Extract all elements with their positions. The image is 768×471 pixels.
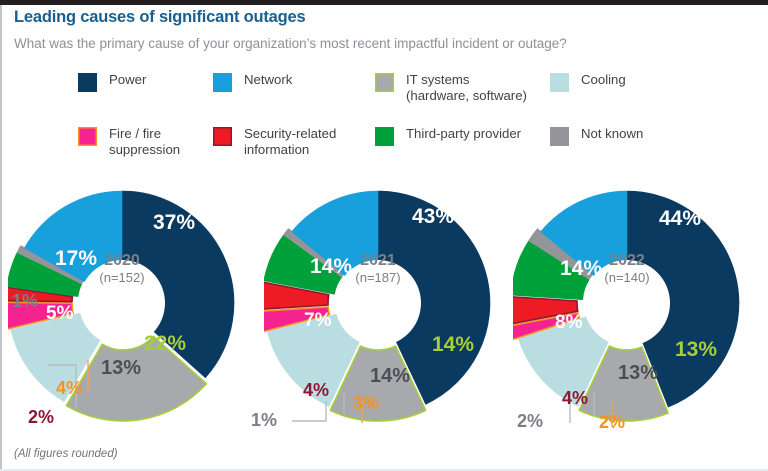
donut-chart-2022: 2022 (n=140) 44% 13% 13% 2% 4% 8% 2% 14% (513, 175, 765, 430)
legend-label-not-known: Not known (581, 126, 643, 142)
legend-swatch-it-systems (375, 73, 394, 92)
legend-swatch-cooling (550, 73, 569, 92)
legend-item-security: Security-related information (213, 126, 336, 157)
donut-chart-2020: 2020 (n=152) 37% 22% 13% 4% 2% 5% 1% 17% (8, 175, 258, 430)
footnote: (All figures rounded) (14, 448, 118, 460)
left-rule (0, 5, 2, 471)
legend-swatch-security (213, 127, 232, 146)
legend-swatch-third-party (375, 127, 394, 146)
legend-swatch-network (213, 73, 232, 92)
legend-item-fire: Fire / fire suppression (78, 126, 180, 157)
legend-item-it-systems: IT systems (hardware, software) (375, 72, 527, 103)
donut-chart-2021: 2021 (n=187) 43% 14% 14% 3% 4% 7% 1% 14% (264, 175, 514, 430)
legend-item-third-party: Third-party provider (375, 126, 521, 146)
legend-swatch-not-known (550, 127, 569, 146)
legend-label-security: Security-related information (244, 126, 336, 157)
legend-label-power: Power (109, 72, 146, 88)
legend-label-fire: Fire / fire suppression (109, 126, 180, 157)
donut-hole (335, 260, 421, 346)
donut-hole (584, 260, 670, 346)
donut-svg-2021 (264, 175, 514, 430)
chart-page: Leading causes of significant outages Wh… (0, 0, 768, 471)
page-title: Leading causes of significant outages (14, 8, 306, 27)
legend-item-not-known: Not known (550, 126, 643, 146)
donut-svg-2022 (513, 175, 765, 430)
donut-hole (79, 260, 165, 346)
leader-notknown-2021 (292, 401, 326, 421)
page-subtitle: What was the primary cause of your organ… (14, 36, 567, 51)
legend-item-network: Network (213, 72, 292, 92)
top-band (0, 0, 768, 5)
legend-swatch-power (78, 73, 97, 92)
legend-swatch-fire (78, 127, 97, 146)
legend-item-power: Power (78, 72, 146, 92)
donut-svg-2020 (8, 175, 258, 430)
legend-item-cooling: Cooling (550, 72, 626, 92)
legend-label-third-party: Third-party provider (406, 126, 521, 142)
legend-label-network: Network (244, 72, 292, 88)
legend-label-cooling: Cooling (581, 72, 626, 88)
legend-label-it-systems: IT systems (hardware, software) (406, 72, 527, 103)
